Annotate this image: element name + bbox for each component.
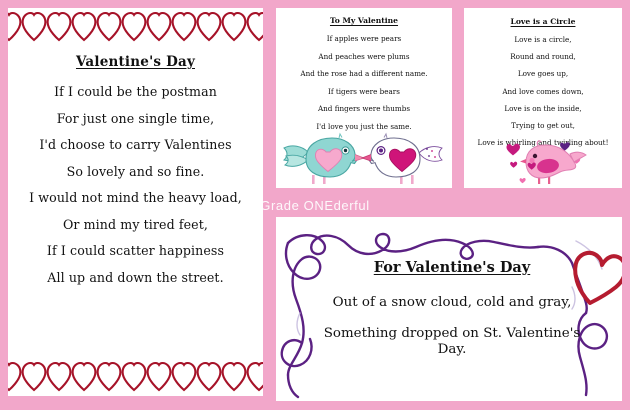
poem-body: To My Valentine If apples were pears And… (278, 16, 450, 139)
poem-line: I'd love you just the same. (278, 122, 450, 131)
valentines-day-poem-card[interactable]: Valentine's Day If I could be the postma… (8, 8, 263, 396)
for-valentines-day-poem-card[interactable]: For Valentine's Day Out of a snow cloud,… (276, 217, 622, 401)
pink-bird-with-hearts-icon (498, 136, 590, 186)
poem-line: If I could scatter happiness (8, 243, 263, 258)
poem-title: To My Valentine (278, 16, 450, 25)
poem-line: If I could be the postman (8, 84, 263, 99)
poem-line: Round and round, (466, 52, 620, 61)
heart-border-top-icon (8, 10, 263, 44)
poem-body: Love is a Circle Love is a circle, Round… (466, 17, 620, 155)
poem-line: Love goes up, (466, 69, 620, 78)
to-my-valentine-poem-card[interactable]: To My Valentine If apples were pears And… (276, 8, 452, 188)
poem-line: And fingers were thumbs (278, 104, 450, 113)
poem-line: Love is a circle, (466, 35, 620, 44)
collage-canvas: Valentine's Day If I could be the postma… (0, 0, 630, 410)
poem-line: And peaches were plums (278, 52, 450, 61)
poem-line: And the rose had a different name. (278, 69, 450, 78)
heart-border-bottom-icon (8, 360, 263, 394)
poem-line: Love is on the inside, (466, 104, 620, 113)
poem-line: For just one single time, (8, 111, 263, 126)
poem-title: Love is a Circle (466, 17, 620, 26)
poem-line: So lovely and so fine. (8, 164, 263, 179)
poem-title: Valentine's Day (8, 54, 263, 70)
poem-line: I would not mind the heavy load, (8, 190, 263, 205)
poem-line: Something dropped on St. Valentine's Day… (316, 326, 588, 357)
love-is-a-circle-poem-card[interactable]: Love is a Circle Love is a circle, Round… (464, 8, 622, 188)
poem-line: If tigers were bears (278, 87, 450, 96)
poem-line: I'd choose to carry Valentines (8, 137, 263, 152)
poem-line: All up and down the street. (8, 270, 263, 285)
poem-line: Trying to get out, (466, 121, 620, 130)
poem-line: If apples were pears (278, 34, 450, 43)
poem-line: And love comes down, (466, 87, 620, 96)
poem-body: For Valentine's Day Out of a snow cloud,… (316, 259, 588, 373)
kissing-birds-icon (282, 132, 446, 188)
poem-body: Valentine's Day If I could be the postma… (8, 54, 263, 296)
poem-line: Or mind my tired feet, (8, 217, 263, 232)
poem-line: Out of a snow cloud, cold and gray, (316, 295, 588, 310)
poem-title: For Valentine's Day (316, 259, 588, 276)
